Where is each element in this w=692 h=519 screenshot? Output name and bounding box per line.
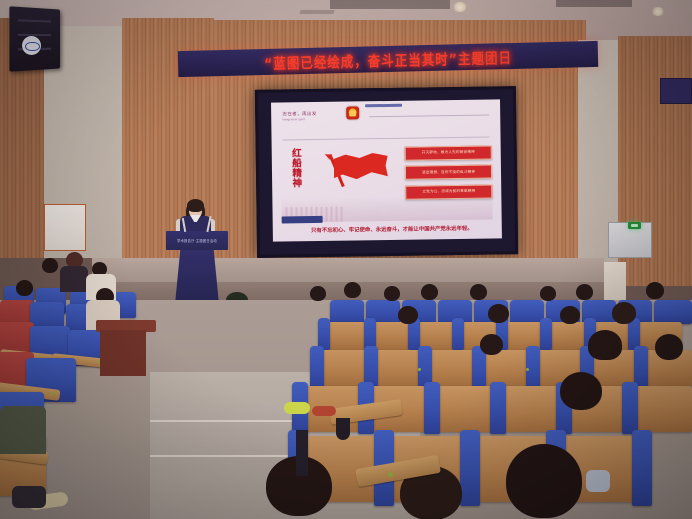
slide-vertical-title: 红船精神 (292, 149, 306, 189)
slide-caption: 只有不忘初心、牢记使命、永远奋斗，才能让中国共产党永远年轻。 (300, 225, 484, 236)
seat (372, 350, 424, 386)
podium-body (175, 250, 219, 304)
audience-head (646, 282, 664, 299)
youth-league-emblem-icon (347, 107, 360, 120)
slide-content: 志在者，再出发 Hongchuan Spirit 红船精神 开天辟地、敢为人先的… (271, 99, 502, 242)
audience-head (398, 306, 418, 324)
slide-badge (282, 216, 323, 224)
armrest-dot (52, 392, 55, 395)
audience-head (588, 330, 622, 360)
side-table-leg (100, 330, 146, 376)
ceiling-vent (330, 0, 450, 9)
slide-toolbar (365, 103, 402, 107)
audience-head (506, 444, 582, 518)
slide-point: 坚定理想、百折不挠的奂斗精神 (405, 165, 492, 180)
seat (330, 300, 364, 324)
seat (480, 350, 532, 386)
seat (432, 386, 496, 432)
exit-sign-icon (628, 222, 641, 229)
seat-side (526, 346, 540, 388)
audience-head (16, 280, 33, 296)
projection-screen: 志在者，再出发 Hongchuan Spirit 红船精神 开天辟地、敢为人先的… (255, 86, 518, 258)
ceiling-downlight (651, 7, 665, 16)
seat (318, 350, 370, 386)
audience-head (421, 284, 438, 300)
red-flag-icon (327, 151, 390, 194)
university-crest-logo (22, 36, 41, 55)
speaker-hair (187, 199, 204, 212)
audience-head (480, 334, 503, 355)
podium-nameplate: 学术报告厅·主题团日活动 (172, 238, 222, 243)
wall-screen-small (660, 78, 692, 104)
cup-holder (336, 418, 350, 440)
seat (426, 350, 478, 386)
armrest-dot (388, 472, 393, 477)
audience-head (560, 306, 580, 324)
seat-side (490, 382, 506, 434)
face-mask (586, 470, 610, 492)
seat-side (622, 382, 638, 434)
armrest-dot (526, 368, 529, 371)
audience-head (612, 302, 636, 324)
ceiling-air-slot (299, 10, 334, 14)
slide-header-en: Hongchuan Spirit (282, 118, 316, 121)
seat (510, 300, 544, 324)
seat (630, 386, 692, 432)
audience-head (344, 282, 361, 298)
seat-side (310, 346, 324, 388)
armrest-dot (418, 368, 421, 371)
audience-body (60, 266, 88, 292)
audience-head (470, 284, 487, 300)
slide-divider (370, 115, 489, 118)
seat-side (632, 430, 652, 506)
audience-head (488, 304, 509, 323)
auditorium-photo: “蓝图已经绘成，奋斗正当其时”主题团日 志在者，再出发 Hongchuan Sp… (0, 0, 692, 519)
wall-whiteboard (44, 204, 86, 251)
shoe (12, 486, 46, 508)
audience-head (540, 286, 556, 301)
podium: 学术报告厅·主题团日活动 (166, 231, 228, 304)
audience-head (576, 284, 593, 300)
seat (654, 300, 692, 324)
audience-body (0, 406, 46, 454)
seat-side (460, 430, 480, 506)
shoe (312, 406, 336, 416)
seat (498, 386, 562, 432)
ceiling-vent (556, 0, 632, 7)
ceiling-downlight (452, 2, 468, 12)
slide-point: 开天辟地、敢为人先的首创精神 (405, 145, 492, 160)
audience-head (42, 258, 58, 273)
banner-text: “蓝图已经绘成，奋斗正当其时”主题团日 (264, 45, 512, 73)
aisle-pole (296, 430, 308, 476)
seat-side (540, 318, 552, 350)
seat-side (424, 382, 440, 434)
audience-head (560, 372, 602, 410)
slide-header-cn: 志在者，再出发 (282, 111, 316, 117)
shoe (284, 402, 310, 414)
seat (326, 322, 368, 350)
seat-side (452, 318, 464, 350)
audience-head (384, 286, 400, 301)
audience-head (655, 334, 683, 360)
audience-head (310, 286, 326, 301)
slide-divider (283, 137, 490, 141)
slide-header: 志在者，再出发 Hongchuan Spirit (282, 111, 316, 121)
